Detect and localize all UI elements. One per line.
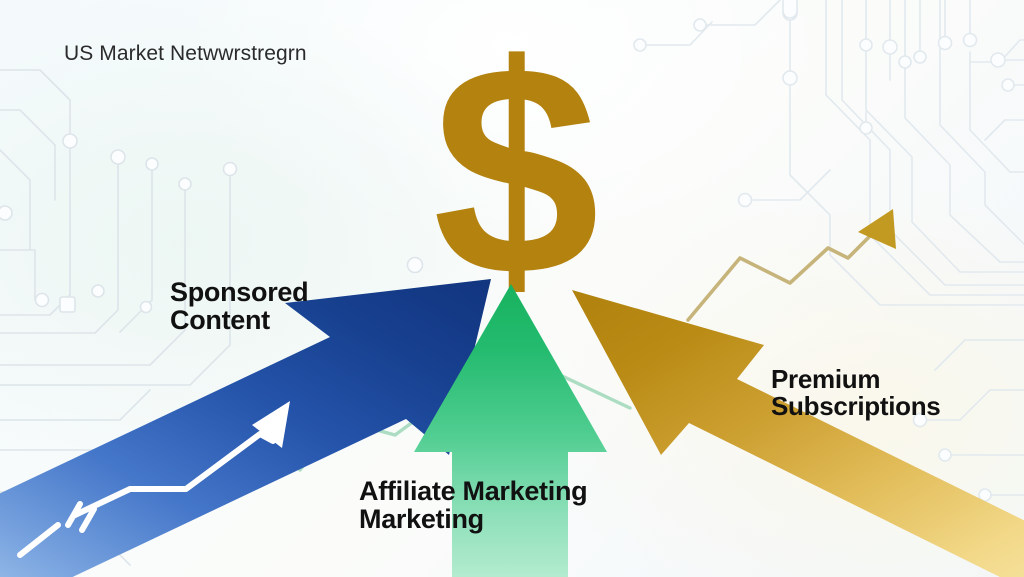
label-premium-line1: Premium bbox=[771, 364, 880, 394]
svg-text:$: $ bbox=[433, 42, 600, 292]
green-trendline bbox=[300, 375, 630, 470]
label-premium-line2: Subscriptions bbox=[771, 393, 940, 420]
dollar-sign-glyph: $ bbox=[602, 42, 603, 43]
label-sponsored-line2: Content bbox=[170, 306, 308, 334]
page-title: US Market Netwwrstregrn bbox=[64, 42, 307, 66]
dollar-sign-icon: $ $ bbox=[430, 42, 602, 292]
green-trendline-arrowhead bbox=[288, 438, 318, 468]
white-trendline-arrowhead bbox=[252, 401, 290, 448]
label-affiliate-line1: Affiliate Marketing bbox=[359, 476, 587, 506]
label-sponsored-line1: Sponsored bbox=[170, 277, 308, 307]
gold-arrow-premium-subscriptions bbox=[572, 290, 1024, 577]
label-affiliate-marketing: Affiliate Marketing Marketing bbox=[359, 477, 587, 533]
label-sponsored-content: Sponsored Content bbox=[170, 278, 308, 334]
label-premium-subscriptions: Premium Subscriptions bbox=[771, 366, 940, 420]
label-affiliate-line2: Marketing bbox=[359, 505, 587, 533]
infographic-canvas: $ $ bbox=[0, 0, 1024, 577]
gold-trendline bbox=[688, 222, 884, 320]
gold-trendline-arrowhead bbox=[858, 209, 896, 249]
